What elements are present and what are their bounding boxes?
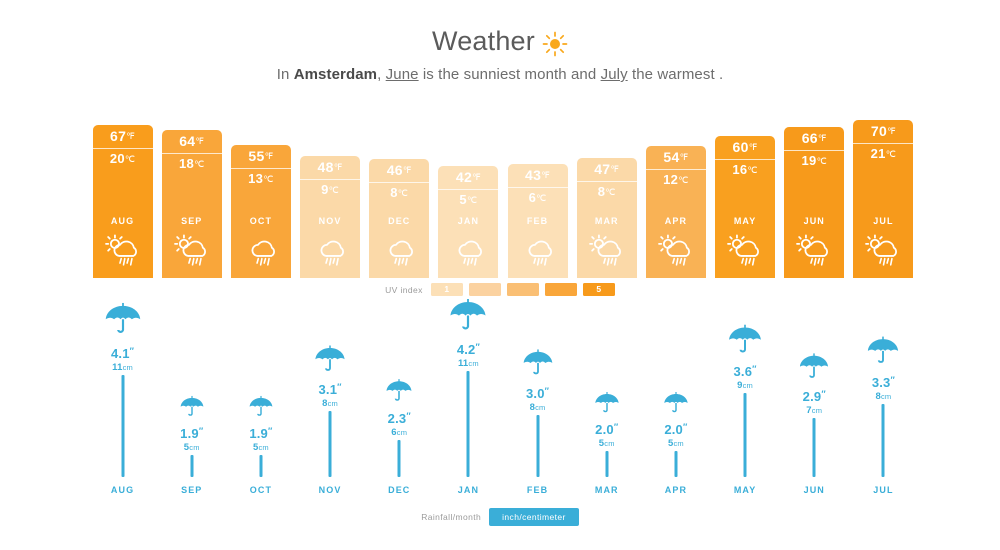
rainfall-inches-value: 4.1 — [111, 346, 130, 361]
unit-celsius: ℃ — [886, 149, 896, 159]
subtitle-city: Amsterdam — [294, 66, 377, 83]
unit-celsius: ℃ — [467, 195, 477, 205]
temperature-celsius-value: 9 — [321, 182, 329, 197]
rainfall-inches: 1.9″ — [160, 426, 224, 441]
rainfall-stem — [813, 418, 816, 477]
unit-fahrenheit: ℉ — [680, 152, 689, 162]
unit-celsius: ℃ — [747, 165, 757, 175]
temperature-celsius-value: 12 — [663, 172, 678, 187]
rainfall-stem — [190, 455, 193, 477]
umbrella-icon — [103, 300, 142, 344]
rainfall-column-jun[interactable]: 7cm2.9″JUN — [782, 345, 846, 495]
temperature-celsius: 20℃ — [93, 152, 153, 166]
temperature-month-label: FEB — [508, 216, 568, 226]
temperature-divider — [508, 187, 568, 188]
rainfall-column-oct[interactable]: 5cm1.9″OCT — [229, 345, 293, 495]
temperature-celsius: 21℃ — [853, 147, 913, 161]
unit-centimeter: cm — [258, 443, 268, 452]
rainfall-inches-value: 4.2 — [457, 342, 476, 357]
rainfall-inches: 3.1″ — [298, 382, 362, 397]
temperature-fahrenheit-value: 46 — [387, 162, 403, 178]
temperature-celsius: 18℃ — [162, 157, 222, 171]
sun-icon — [542, 31, 568, 57]
uv-swatch-2[interactable] — [469, 283, 501, 296]
temperature-fahrenheit: 64℉ — [162, 134, 222, 149]
rainfall-centimeters: 7cm — [782, 405, 846, 416]
rainfall-month-label: DEC — [367, 485, 431, 495]
sun-cloud-rain-icon — [172, 234, 212, 268]
unit-inch: ″ — [821, 389, 826, 399]
temperature-fahrenheit: 70℉ — [853, 124, 913, 139]
temperature-month-label: SEP — [162, 216, 222, 226]
rainfall-centimeters-value: 11 — [458, 358, 468, 369]
temperature-divider — [300, 179, 360, 180]
unit-celsius: ℃ — [605, 187, 615, 197]
sun-cloud-rain-icon — [587, 234, 627, 268]
temperature-divider — [646, 169, 706, 170]
temperature-fahrenheit-value: 55 — [248, 148, 264, 164]
temperature-celsius: 13℃ — [231, 172, 291, 186]
umbrella-icon — [448, 296, 488, 341]
rainfall-centimeters: 9cm — [713, 380, 777, 391]
temperature-bar-jul[interactable]: 70℉21℃JUL — [853, 120, 913, 278]
umbrella-icon — [866, 334, 901, 374]
rainfall-inches-value: 3.3 — [872, 375, 891, 390]
rainfall-stem — [674, 451, 677, 477]
temperature-fahrenheit-value: 54 — [663, 149, 679, 165]
unit-celsius: ℃ — [398, 188, 408, 198]
rainfall-month-label: OCT — [229, 485, 293, 495]
rainfall-month-label: JUN — [782, 485, 846, 495]
rainfall-month-label: MAY — [713, 485, 777, 495]
temperature-bar-nov[interactable]: 48℉9℃NOV — [300, 156, 360, 278]
cloud-rain-icon — [310, 234, 350, 268]
cloud-rain-icon — [448, 234, 488, 268]
unit-celsius: ℃ — [125, 154, 135, 164]
temperature-celsius-value: 19 — [802, 153, 817, 168]
cloud-rain-icon — [518, 234, 558, 268]
temperature-fahrenheit: 46℉ — [369, 163, 429, 178]
temperature-fahrenheit-value: 43 — [525, 167, 541, 183]
temperature-celsius: 5℃ — [438, 193, 498, 207]
rainfall-stem — [121, 375, 124, 477]
temperature-month-label: AUG — [93, 216, 153, 226]
rainfall-inches-value: 2.3 — [388, 411, 407, 426]
temperature-bar-may[interactable]: 60℉16℃MAY — [715, 136, 775, 278]
rainfall-centimeters: 8cm — [851, 391, 915, 402]
unit-centimeter: cm — [328, 399, 338, 408]
unit-celsius: ℃ — [194, 159, 204, 169]
umbrella-icon — [798, 351, 830, 388]
temperature-fahrenheit: 60℉ — [715, 140, 775, 155]
unit-centimeter: cm — [189, 443, 199, 452]
rainfall-inches-value: 1.9 — [249, 426, 268, 441]
rainfall-unit-toggle[interactable]: inch/centimeter — [489, 508, 579, 526]
rainfall-stem — [398, 440, 401, 477]
unit-fahrenheit: ℉ — [887, 126, 896, 136]
unit-inch: ″ — [130, 346, 135, 356]
temperature-bar-jan[interactable]: 42℉5℃JAN — [438, 166, 498, 278]
unit-fahrenheit: ℉ — [818, 133, 827, 143]
rainfall-column-feb[interactable]: 8cm3.0″FEB — [506, 345, 570, 495]
rainfall-stem — [259, 455, 262, 477]
rainfall-inches-value: 3.1 — [318, 382, 337, 397]
unit-fahrenheit: ℉ — [472, 172, 481, 182]
rainfall-legend: Rainfall/month inch/centimeter — [0, 508, 1000, 526]
temperature-month-label: JAN — [438, 216, 498, 226]
temperature-fahrenheit-value: 64 — [179, 133, 195, 149]
sun-cloud-rain-icon — [794, 234, 834, 268]
rainfall-month-label: FEB — [506, 485, 570, 495]
temperature-month-label: MAR — [577, 216, 637, 226]
temperature-bar-aug[interactable]: 67℉20℃AUG — [93, 125, 153, 278]
rainfall-column-mar[interactable]: 5cm2.0″MAR — [575, 345, 639, 495]
temperature-celsius-value: 18 — [179, 156, 194, 171]
temperature-chart: 67℉20℃AUG64℉18℃SEP55℉13℃OCT48℉9℃NOV46℉8℃… — [88, 118, 918, 278]
temperature-fahrenheit-value: 66 — [802, 130, 818, 146]
subtitle-post: the warmest . — [628, 66, 724, 83]
rainfall-centimeters: 6cm — [367, 427, 431, 438]
rainfall-column-may[interactable]: 9cm3.6″MAY — [713, 345, 777, 495]
rainfall-month-label: AUG — [91, 485, 155, 495]
temperature-fahrenheit: 48℉ — [300, 160, 360, 175]
subtitle-warmest-month[interactable]: July — [601, 66, 628, 83]
rainfall-centimeters: 5cm — [229, 442, 293, 453]
rainfall-centimeters: 5cm — [160, 442, 224, 453]
rainfall-centimeters-value: 11 — [112, 362, 122, 373]
temperature-month-label: NOV — [300, 216, 360, 226]
rainfall-month-label: APR — [644, 485, 708, 495]
umbrella-icon — [593, 390, 620, 422]
unit-fahrenheit: ℉ — [541, 170, 550, 180]
unit-fahrenheit: ℉ — [403, 165, 412, 175]
unit-inch: ″ — [406, 411, 411, 421]
temperature-fahrenheit-value: 70 — [871, 123, 887, 139]
temperature-celsius: 6℃ — [508, 191, 568, 205]
unit-centimeter: cm — [397, 428, 407, 437]
rainfall-inches-value: 2.0 — [664, 422, 683, 437]
rainfall-column-aug[interactable]: 11cm4.1″AUG — [91, 345, 155, 495]
temperature-celsius-value: 5 — [459, 192, 467, 207]
unit-celsius: ℃ — [329, 185, 339, 195]
unit-celsius: ℃ — [263, 174, 273, 184]
temperature-bar-dec[interactable]: 46℉8℃DEC — [369, 159, 429, 278]
umbrella-icon — [248, 394, 274, 425]
rainfall-centimeters: 5cm — [575, 438, 639, 449]
temperature-celsius-value: 6 — [529, 190, 537, 205]
rainfall-inches: 4.1″ — [91, 346, 155, 361]
uv-index-legend: UV index 15 — [0, 283, 1000, 296]
temperature-bar-mar[interactable]: 47℉8℃MAR — [577, 158, 637, 278]
rainfall-stem — [467, 371, 470, 477]
temperature-divider — [231, 168, 291, 169]
temperature-bar-sep[interactable]: 64℉18℃SEP — [162, 130, 222, 278]
rainfall-column-dec[interactable]: 6cm2.3″DEC — [367, 345, 431, 495]
unit-inch: ″ — [752, 364, 757, 374]
unit-inch: ″ — [890, 375, 895, 385]
sun-cloud-rain-icon — [863, 234, 903, 268]
temperature-celsius-value: 20 — [110, 151, 125, 166]
rainfall-inches: 2.0″ — [644, 422, 708, 437]
umbrella-icon — [727, 322, 763, 363]
temperature-celsius: 9℃ — [300, 183, 360, 197]
uv-swatch-1[interactable]: 1 — [431, 283, 463, 296]
sun-cloud-rain-icon — [103, 234, 143, 268]
temperature-celsius-value: 16 — [732, 162, 747, 177]
unit-centimeter: cm — [468, 359, 478, 368]
rainfall-month-label: JAN — [436, 485, 500, 495]
temperature-bar-jun[interactable]: 66℉19℃JUN — [784, 127, 844, 278]
rainfall-column-jan[interactable]: 11cm4.2″JAN — [436, 345, 500, 495]
cloud-rain-icon — [241, 234, 281, 268]
unit-inch: ″ — [475, 342, 480, 352]
temperature-month-label: MAY — [715, 216, 775, 226]
temperature-month-label: JUN — [784, 216, 844, 226]
uv-index-label: UV index — [385, 285, 423, 295]
umbrella-icon — [313, 343, 346, 381]
temperature-celsius: 12℃ — [646, 173, 706, 187]
temperature-fahrenheit: 42℉ — [438, 170, 498, 185]
subtitle-pre: In — [277, 66, 294, 83]
unit-centimeter: cm — [535, 403, 545, 412]
temperature-fahrenheit-value: 42 — [456, 169, 472, 185]
unit-inch: ″ — [337, 382, 342, 392]
unit-inch: ″ — [199, 426, 204, 436]
unit-fahrenheit: ℉ — [610, 164, 619, 174]
rainfall-legend-label: Rainfall/month — [421, 512, 481, 522]
unit-fahrenheit: ℉ — [334, 162, 343, 172]
unit-centimeter: cm — [123, 363, 133, 372]
temperature-divider — [715, 159, 775, 160]
umbrella-icon — [385, 377, 413, 410]
weather-infographic: Weather In Amst — [0, 0, 1000, 550]
unit-inch: ″ — [268, 426, 273, 436]
temperature-celsius: 8℃ — [369, 186, 429, 200]
rainfall-column-nov[interactable]: 8cm3.1″NOV — [298, 345, 362, 495]
subtitle-mid2: is the sunniest month and — [419, 66, 601, 83]
rainfall-inches: 2.9″ — [782, 389, 846, 404]
rainfall-inches-value: 2.9 — [803, 389, 822, 404]
rainfall-column-apr[interactable]: 5cm2.0″APR — [644, 345, 708, 495]
rainfall-centimeters: 11cm — [91, 362, 155, 373]
temperature-divider — [853, 143, 913, 144]
unit-celsius: ℃ — [678, 175, 688, 185]
temperature-celsius: 16℃ — [715, 163, 775, 177]
sun-cloud-rain-icon — [725, 234, 765, 268]
temperature-month-label: JUL — [853, 216, 913, 226]
sun-cloud-rain-icon — [656, 234, 696, 268]
temperature-fahrenheit: 43℉ — [508, 168, 568, 183]
temperature-fahrenheit-value: 67 — [110, 128, 126, 144]
rainfall-inches: 2.3″ — [367, 411, 431, 426]
umbrella-icon — [521, 347, 554, 385]
rainfall-inches: 1.9″ — [229, 426, 293, 441]
unit-inch: ″ — [683, 422, 688, 432]
temperature-bar-apr[interactable]: 54℉12℃APR — [646, 146, 706, 278]
page-title: Weather — [432, 26, 535, 57]
subtitle-sunniest-month[interactable]: June — [386, 66, 419, 83]
rainfall-stem — [605, 451, 608, 477]
temperature-fahrenheit: 47℉ — [577, 162, 637, 177]
temperature-fahrenheit: 54℉ — [646, 150, 706, 165]
uv-swatch-value: 5 — [583, 284, 615, 294]
unit-fahrenheit: ℉ — [126, 131, 135, 141]
temperature-month-label: OCT — [231, 216, 291, 226]
rainfall-inches: 3.6″ — [713, 364, 777, 379]
unit-centimeter: cm — [743, 381, 753, 390]
unit-centimeter: cm — [812, 406, 822, 415]
unit-fahrenheit: ℉ — [195, 136, 204, 146]
temperature-month-label: DEC — [369, 216, 429, 226]
rainfall-inches: 4.2″ — [436, 342, 500, 357]
rainfall-stem — [744, 393, 747, 477]
rainfall-stem — [536, 415, 539, 477]
header: Weather In Amst — [0, 26, 1000, 83]
rainfall-month-label: NOV — [298, 485, 362, 495]
temperature-fahrenheit: 66℉ — [784, 131, 844, 146]
umbrella-icon — [663, 390, 690, 422]
temperature-fahrenheit: 55℉ — [231, 149, 291, 164]
rainfall-centimeters: 8cm — [506, 402, 570, 413]
unit-centimeter: cm — [673, 439, 683, 448]
uv-swatch-4[interactable] — [545, 283, 577, 296]
rainfall-inches: 3.0″ — [506, 386, 570, 401]
temperature-fahrenheit-value: 60 — [733, 139, 749, 155]
temperature-celsius: 8℃ — [577, 185, 637, 199]
unit-inch: ″ — [545, 386, 550, 396]
temperature-celsius-value: 13 — [248, 171, 263, 186]
rainfall-inches: 3.3″ — [851, 375, 915, 390]
temperature-fahrenheit-value: 47 — [594, 161, 610, 177]
rainfall-stem — [882, 404, 885, 477]
rainfall-month-label: MAR — [575, 485, 639, 495]
cloud-rain-icon — [379, 234, 419, 268]
unit-fahrenheit: ℉ — [749, 142, 758, 152]
temperature-celsius-value: 21 — [871, 146, 886, 161]
rainfall-inches-value: 2.0 — [595, 422, 614, 437]
uv-swatch-3[interactable] — [507, 283, 539, 296]
unit-celsius: ℃ — [536, 193, 546, 203]
temperature-divider — [93, 148, 153, 149]
rainfall-month-label: SEP — [160, 485, 224, 495]
temperature-divider — [438, 189, 498, 190]
temperature-divider — [162, 153, 222, 154]
temperature-bar-oct[interactable]: 55℉13℃OCT — [231, 145, 291, 278]
unit-fahrenheit: ℉ — [265, 151, 274, 161]
rainfall-column-jul[interactable]: 8cm3.3″JUL — [851, 345, 915, 495]
rainfall-inches-value: 1.9 — [180, 426, 199, 441]
unit-centimeter: cm — [881, 392, 891, 401]
temperature-celsius: 19℃ — [784, 154, 844, 168]
temperature-divider — [577, 181, 637, 182]
rainfall-centimeters: 11cm — [436, 358, 500, 369]
uv-swatch-5[interactable]: 5 — [583, 283, 615, 296]
rainfall-month-label: JUL — [851, 485, 915, 495]
rainfall-centimeters: 8cm — [298, 398, 362, 409]
temperature-fahrenheit: 67℉ — [93, 129, 153, 144]
rainfall-chart: 11cm4.1″AUG5cm1.9″SEP5cm1.9″OCT8cm3.1″NO… — [88, 335, 918, 495]
rainfall-column-sep[interactable]: 5cm1.9″SEP — [160, 345, 224, 495]
subtitle-mid1: , — [377, 66, 386, 83]
rainfall-inches: 2.0″ — [575, 422, 639, 437]
rainfall-centimeters: 5cm — [644, 438, 708, 449]
temperature-bar-feb[interactable]: 43℉6℃FEB — [508, 164, 568, 278]
temperature-divider — [369, 182, 429, 183]
umbrella-icon — [179, 394, 205, 425]
temperature-celsius-value: 8 — [390, 185, 398, 200]
temperature-divider — [784, 150, 844, 151]
subtitle: In Amsterdam, June is the sunniest month… — [0, 66, 1000, 83]
temperature-month-label: APR — [646, 216, 706, 226]
unit-centimeter: cm — [604, 439, 614, 448]
unit-celsius: ℃ — [817, 156, 827, 166]
title-row: Weather — [0, 26, 1000, 57]
unit-inch: ″ — [614, 422, 619, 432]
temperature-fahrenheit-value: 48 — [318, 159, 334, 175]
rainfall-stem — [329, 411, 332, 477]
rainfall-inches-value: 3.0 — [526, 386, 545, 401]
uv-swatch-value: 1 — [431, 284, 463, 294]
rainfall-inches-value: 3.6 — [733, 364, 752, 379]
